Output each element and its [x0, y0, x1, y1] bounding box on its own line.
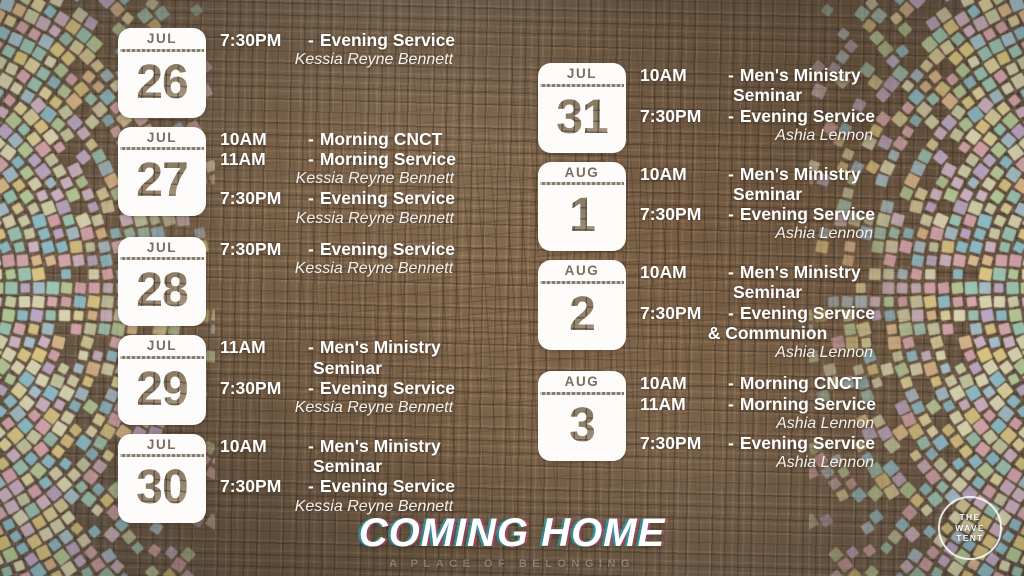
event-name: Men's Ministry [320, 337, 441, 357]
event-line: 7:30PM-Evening Service [640, 106, 875, 126]
event-name: Evening Service [320, 378, 455, 398]
day-row: JUL3010AM-Men's MinistrySeminar7:30PM-Ev… [118, 434, 456, 524]
calendar-month: JUL [538, 63, 626, 84]
event-line: 11AM-Morning Service [640, 394, 876, 414]
wave-tent-logo: THE WAVE TENT [938, 496, 1002, 560]
event-time: 7:30PM [220, 239, 308, 259]
calendar-day-number: 27 [118, 150, 206, 216]
event-name: Evening Service [740, 303, 875, 323]
event-line: 11AM-Men's Ministry [220, 337, 455, 357]
event-line: 7:30PM-Evening Service [640, 433, 876, 453]
calendar-chip: AUG1 [538, 162, 626, 252]
event-time: 10AM [640, 262, 728, 282]
event-line: 10AM-Morning CNCT [640, 373, 876, 393]
calendar-chip: AUG2 [538, 260, 626, 350]
event-time: 7:30PM [220, 378, 308, 398]
calendar-month: JUL [118, 335, 206, 356]
event-name: Morning CNCT [740, 373, 862, 393]
event-separator: - [728, 164, 740, 184]
day-row: JUL3110AM-Men's MinistrySeminar7:30PM-Ev… [538, 63, 876, 153]
event-speaker: Kessia Reyne Bennett [220, 209, 456, 228]
event-separator: - [728, 433, 740, 453]
calendar-divider [120, 454, 204, 457]
event-separator: - [308, 30, 320, 50]
calendar-chip: JUL30 [118, 434, 206, 524]
event-separator: - [728, 373, 740, 393]
event-name: Evening Service [740, 433, 875, 453]
logo-line-wave: WAVE [955, 523, 985, 534]
event-time: 10AM [640, 373, 728, 393]
calendar-day-number: 26 [118, 52, 206, 118]
event-list: 10AM-Men's MinistrySeminar7:30PM-Evening… [626, 63, 875, 145]
event-list: 7:30PM-Evening ServiceKessia Reyne Benne… [206, 237, 455, 278]
schedule-area: JUL267:30PM-Evening ServiceKessia Reyne … [0, 0, 1024, 576]
event-speaker: Ashia Lennon [640, 343, 875, 362]
event-time: 7:30PM [220, 188, 308, 208]
event-name: Men's Ministry [740, 65, 861, 85]
event-name-continued: Seminar [220, 456, 455, 476]
event-speaker: Ashia Lennon [640, 414, 876, 433]
event-separator: - [308, 378, 320, 398]
calendar-chip: JUL26 [118, 28, 206, 118]
event-name: Morning Service [320, 149, 456, 169]
calendar-divider [540, 84, 624, 87]
calendar-month: JUL [118, 127, 206, 148]
event-line: 10AM-Men's Ministry [640, 65, 875, 85]
event-speaker: Kessia Reyne Bennett [220, 259, 455, 278]
event-title: COMING HOME [0, 513, 1024, 553]
event-time: 7:30PM [220, 476, 308, 496]
event-name: Evening Service [320, 188, 455, 208]
calendar-day-number: 3 [538, 395, 626, 461]
event-time: 10AM [640, 65, 728, 85]
event-line: 11AM-Morning Service [220, 149, 456, 169]
event-line: 7:30PM-Evening Service [220, 188, 456, 208]
event-speaker: Kessia Reyne Bennett [220, 169, 456, 188]
event-separator: - [308, 239, 320, 259]
event-name: Morning Service [740, 394, 876, 414]
event-speaker: Ashia Lennon [640, 126, 875, 145]
event-line: 10AM-Men's Ministry [640, 164, 875, 184]
calendar-day-number: 2 [538, 284, 626, 350]
event-name: Men's Ministry [740, 164, 861, 184]
calendar-month: AUG [538, 371, 626, 392]
event-separator: - [728, 303, 740, 323]
event-name-continued: Seminar [640, 85, 875, 105]
calendar-chip: JUL29 [118, 335, 206, 425]
event-line: 7:30PM-Evening Service [640, 303, 875, 323]
event-separator: - [728, 204, 740, 224]
schedule-column-left: JUL267:30PM-Evening ServiceKessia Reyne … [118, 28, 456, 532]
calendar-month: JUL [118, 28, 206, 49]
event-name: Evening Service [320, 30, 455, 50]
event-name-continued: Seminar [640, 184, 875, 204]
calendar-divider [540, 392, 624, 395]
event-name-continued: Seminar [220, 358, 455, 378]
day-row: JUL267:30PM-Evening ServiceKessia Reyne … [118, 28, 456, 118]
event-list: 10AM-Men's MinistrySeminar7:30PM-Evening… [626, 260, 875, 362]
event-line: 7:30PM-Evening Service [220, 476, 455, 496]
logo-line-tent: TENT [955, 533, 985, 544]
event-separator: - [728, 262, 740, 282]
calendar-month: AUG [538, 260, 626, 281]
event-time: 10AM [220, 436, 308, 456]
event-line: 7:30PM-Evening Service [220, 30, 455, 50]
event-separator: - [308, 188, 320, 208]
event-name: Men's Ministry [320, 436, 441, 456]
event-line: 10AM-Men's Ministry [220, 436, 455, 456]
event-list: 10AM-Men's MinistrySeminar7:30PM-Evening… [626, 162, 875, 244]
poster-canvas: JUL267:30PM-Evening ServiceKessia Reyne … [0, 0, 1024, 576]
event-time: 10AM [220, 129, 308, 149]
calendar-day-number: 31 [538, 87, 626, 153]
calendar-divider [540, 281, 624, 284]
calendar-divider [120, 147, 204, 150]
calendar-divider [120, 257, 204, 260]
calendar-chip: AUG3 [538, 371, 626, 461]
calendar-day-number: 28 [118, 260, 206, 326]
event-time: 10AM [640, 164, 728, 184]
event-separator: - [728, 106, 740, 126]
event-list: 10AM-Morning CNCT11AM-Morning ServiceKes… [206, 127, 456, 228]
event-name: Morning CNCT [320, 129, 442, 149]
day-row: AUG310AM-Morning CNCT11AM-Morning Servic… [538, 371, 876, 472]
event-time: 11AM [220, 149, 308, 169]
event-name: Men's Ministry [740, 262, 861, 282]
event-list: 10AM-Morning CNCT11AM-Morning ServiceAsh… [626, 371, 876, 472]
event-time: 7:30PM [640, 303, 728, 323]
day-row: AUG110AM-Men's MinistrySeminar7:30PM-Eve… [538, 162, 876, 252]
event-time: 7:30PM [640, 106, 728, 126]
calendar-chip: JUL27 [118, 127, 206, 217]
event-line: 7:30PM-Evening Service [220, 239, 455, 259]
event-speaker: Kessia Reyne Bennett [220, 50, 455, 69]
calendar-divider [120, 356, 204, 359]
event-separator: - [308, 149, 320, 169]
event-line: 7:30PM-Evening Service [640, 204, 875, 224]
calendar-month: AUG [538, 162, 626, 183]
event-time: 7:30PM [220, 30, 308, 50]
event-line: 10AM-Morning CNCT [220, 129, 456, 149]
event-subtitle: A PLACE OF BELONGING [0, 558, 1024, 570]
event-list: 7:30PM-Evening ServiceKessia Reyne Benne… [206, 28, 455, 69]
event-list: 10AM-Men's MinistrySeminar7:30PM-Evening… [206, 434, 455, 516]
calendar-divider [540, 182, 624, 185]
event-speaker: Kessia Reyne Bennett [220, 398, 455, 417]
event-name-continued: Seminar [640, 282, 875, 302]
calendar-chip: JUL28 [118, 237, 206, 327]
calendar-day-number: 29 [118, 359, 206, 425]
event-name-continued: & Communion [640, 323, 875, 343]
day-row: JUL2911AM-Men's MinistrySeminar7:30PM-Ev… [118, 335, 456, 425]
brand-footer: COMING HOME A PLACE OF BELONGING [0, 513, 1024, 570]
event-separator: - [728, 394, 740, 414]
logo-line-the: THE [955, 512, 985, 523]
calendar-chip: JUL31 [538, 63, 626, 153]
schedule-column-right: JUL3110AM-Men's MinistrySeminar7:30PM-Ev… [538, 63, 876, 482]
day-row: AUG210AM-Men's MinistrySeminar7:30PM-Eve… [538, 260, 876, 362]
event-name: Evening Service [320, 239, 455, 259]
event-time: 7:30PM [640, 433, 728, 453]
event-separator: - [308, 476, 320, 496]
event-time: 11AM [220, 337, 308, 357]
day-row: JUL287:30PM-Evening ServiceKessia Reyne … [118, 237, 456, 327]
event-separator: - [308, 129, 320, 149]
calendar-month: JUL [118, 237, 206, 258]
calendar-divider [120, 49, 204, 52]
calendar-month: JUL [118, 434, 206, 455]
event-name: Evening Service [320, 476, 455, 496]
calendar-day-number: 1 [538, 185, 626, 251]
event-line: 10AM-Men's Ministry [640, 262, 875, 282]
event-speaker: Ashia Lennon [640, 453, 876, 472]
logo-text-stack: THE WAVE TENT [955, 512, 985, 544]
event-separator: - [308, 337, 320, 357]
event-separator: - [308, 436, 320, 456]
day-row: JUL2710AM-Morning CNCT11AM-Morning Servi… [118, 127, 456, 228]
event-separator: - [728, 65, 740, 85]
event-name: Evening Service [740, 106, 875, 126]
event-line: 7:30PM-Evening Service [220, 378, 455, 398]
event-name: Evening Service [740, 204, 875, 224]
event-time: 7:30PM [640, 204, 728, 224]
event-list: 11AM-Men's MinistrySeminar7:30PM-Evening… [206, 335, 455, 417]
event-speaker: Ashia Lennon [640, 224, 875, 243]
event-time: 11AM [640, 394, 728, 414]
